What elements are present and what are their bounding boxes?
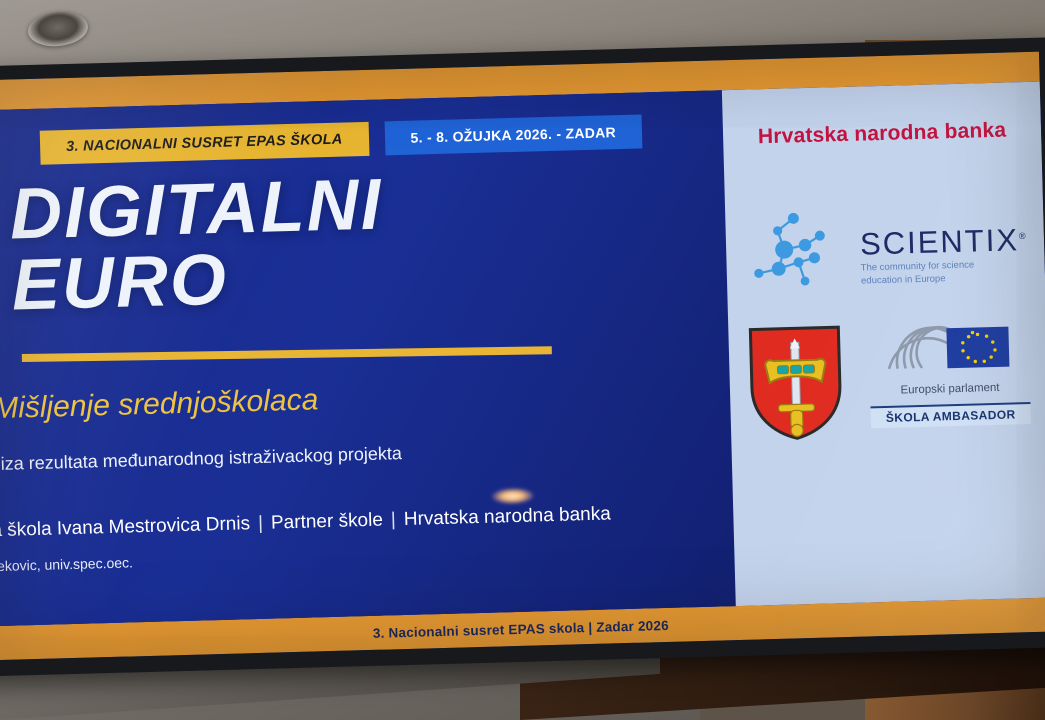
scientix-molecule-icon xyxy=(747,205,860,304)
title-underline-rule xyxy=(22,346,552,362)
partner-school: Srednja škola Ivana Mestrovica Drnis xyxy=(0,513,250,542)
screen-glare xyxy=(492,488,534,505)
scientix-name: SCIENTIX® xyxy=(860,224,1028,260)
partner-bank: Hrvatska narodna banka xyxy=(404,503,612,530)
scientix-name-text: SCIENTIX xyxy=(860,222,1020,261)
separator-1: | xyxy=(250,513,271,535)
slide-title: DIGITALNI EURO xyxy=(9,163,633,322)
separator-2: | xyxy=(383,509,404,531)
drnis-coat-of-arms-icon xyxy=(746,323,845,444)
european-parliament-logo: Europski parlament ŠKOLA AMBASADOR xyxy=(868,318,1031,428)
scientix-trademark: ® xyxy=(1019,231,1028,241)
school-ambassador-badge: ŠKOLA AMBASADOR xyxy=(870,402,1031,428)
scientix-wordmark: SCIENTIX® The community for science educ… xyxy=(860,224,1029,288)
bank-title: Hrvatska narodna banka xyxy=(723,118,1042,151)
slide-subtitle: Mišljenje srednjoškolaca xyxy=(0,383,319,426)
coat-of-arms xyxy=(746,323,845,444)
date-badge: 5. - 8. OŽUJKA 2026. - ZADAR xyxy=(384,114,642,155)
slide-left-pane: 3. NACIONALNI SUSRET EPAS ŠKOLA 5. - 8. … xyxy=(0,90,736,626)
european-parliament-label: Europski parlament xyxy=(870,381,1030,397)
scientix-logo: SCIENTIX® The community for science educ… xyxy=(747,200,1022,305)
slide-description: Analiza rezultata međunarodnog istraživa… xyxy=(0,443,402,476)
slide-author: Martina Jekovic, univ.spec.oec. xyxy=(0,554,133,575)
badge-row: 3. NACIONALNI SUSRET EPAS ŠKOLA 5. - 8. … xyxy=(40,114,643,164)
wall-mounted-tv: 3. NACIONALNI SUSRET EPAS ŠKOLA 5. - 8. … xyxy=(0,37,1045,676)
slide-body: 3. NACIONALNI SUSRET EPAS ŠKOLA 5. - 8. … xyxy=(0,82,1045,627)
tv-screen: 3. NACIONALNI SUSRET EPAS ŠKOLA 5. - 8. … xyxy=(0,52,1045,661)
partner-label: Partner škole xyxy=(271,510,383,534)
date-badge-label: 5. - 8. OŽUJKA 2026. - ZADAR xyxy=(410,124,616,146)
title-line-2: EURO xyxy=(11,234,633,322)
scientix-tagline: The community for science education in E… xyxy=(861,258,1029,288)
tv-bezel: 3. NACIONALNI SUSRET EPAS ŠKOLA 5. - 8. … xyxy=(0,37,1045,676)
event-badge: 3. NACIONALNI SUSRET EPAS ŠKOLA xyxy=(40,122,369,165)
slide-footer-text: 3. Nacionalni susret EPAS skola | Zadar … xyxy=(373,617,669,640)
presentation-slide: 3. NACIONALNI SUSRET EPAS ŠKOLA 5. - 8. … xyxy=(0,52,1045,661)
room-scene: 3. NACIONALNI SUSRET EPAS ŠKOLA 5. - 8. … xyxy=(0,0,1045,720)
slide-right-pane: Hrvatska narodna banka xyxy=(722,82,1045,606)
partners-line: Srednja škola Ivana Mestrovica Drnis|Par… xyxy=(0,503,611,543)
european-parliament-icon xyxy=(868,318,1029,378)
event-badge-label: 3. NACIONALNI SUSRET EPAS ŠKOLA xyxy=(66,132,343,155)
